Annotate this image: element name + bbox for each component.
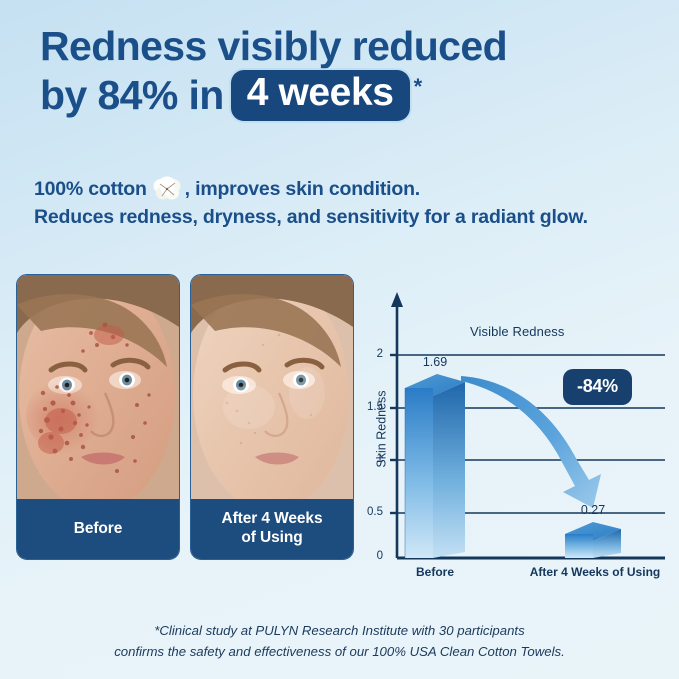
after-photo-label-line-2: of Using — [241, 529, 302, 546]
bar-value-after: 0.27 — [561, 503, 625, 517]
y-tick-2: 2 — [361, 348, 383, 360]
headline-block: Redness visibly reduced by 84% in 4 week… — [40, 24, 650, 121]
before-photo-label: Before — [17, 499, 179, 559]
reduction-badge: -84% — [563, 369, 632, 405]
before-photo-card: Before — [16, 274, 180, 560]
weeks-badge: 4 weeks — [231, 70, 410, 121]
headline-line-2: by 84% in 4 weeks * — [40, 70, 650, 121]
before-after-photos: Before — [16, 274, 354, 560]
subtitle-line-1: 100% cotton , improves skin condition. — [34, 175, 654, 203]
y-tick-0-5: 0.5 — [361, 506, 383, 518]
bar-value-before: 1.69 — [403, 355, 467, 369]
headline-line-2-text: by 84% in — [40, 72, 224, 119]
subtitle-line-1-before: 100% cotton — [34, 175, 147, 203]
footnote-asterisk: * — [414, 74, 423, 100]
subtitle-line-1-after: , improves skin condition. — [185, 175, 420, 203]
footnote-line-1: *Clinical study at PULYN Research Instit… — [0, 620, 679, 641]
footnote-block: *Clinical study at PULYN Research Instit… — [0, 620, 679, 662]
after-photo-card: After 4 Weeks of Using — [190, 274, 354, 560]
redness-bar-chart: Visible Redness Skin Redness 2 1.5 1 0.5… — [365, 284, 670, 584]
bar-before — [405, 374, 465, 558]
before-face-image — [17, 275, 179, 499]
y-tick-0: 0 — [361, 550, 383, 562]
category-label-after: After 4 Weeks of Using — [525, 565, 665, 579]
after-face-image — [191, 275, 353, 499]
y-tick-1: 1 — [361, 453, 383, 465]
after-photo-label: After 4 Weeks of Using — [191, 499, 353, 559]
subtitle-line-2: Reduces redness, dryness, and sensitivit… — [34, 203, 654, 231]
headline-line-1: Redness visibly reduced — [40, 24, 650, 70]
after-photo-label-line-1: After 4 Weeks — [222, 510, 323, 527]
chart-y-axis — [391, 292, 403, 558]
cotton-flower-icon — [152, 176, 182, 202]
y-tick-1-5: 1.5 — [361, 401, 383, 413]
footnote-line-2: confirms the safety and effectiveness of… — [0, 641, 679, 662]
category-label-before: Before — [387, 565, 483, 579]
bar-after — [565, 522, 621, 558]
subtitle-block: 100% cotton , improves skin condition. R… — [34, 175, 654, 232]
chart-title: Visible Redness — [470, 324, 564, 339]
